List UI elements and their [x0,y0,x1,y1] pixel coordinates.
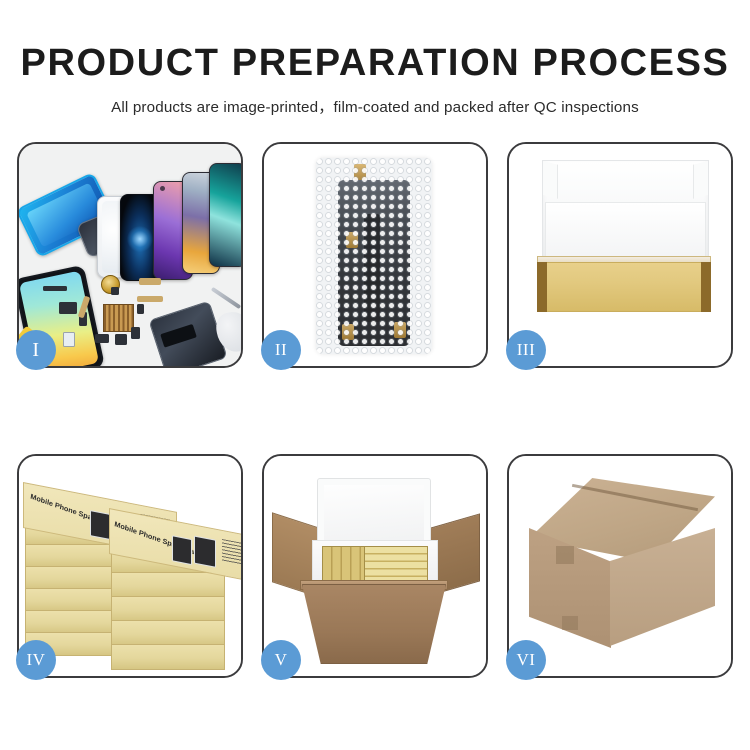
process-step-3: III [507,142,733,368]
foam-lid [317,478,431,548]
step-badge: III [506,330,546,370]
kraft-box-body [537,262,711,312]
box-art-phone [90,510,110,540]
stacked-box [111,572,225,598]
step-badge: I [16,330,56,370]
stacked-box [111,620,225,646]
bubble-wrap-bag [316,158,432,354]
page-title: PRODUCT PREPARATION PROCESS [0,0,750,82]
wrapped-spare-part [338,180,410,346]
chip-part [137,304,144,314]
step-badge: VI [506,640,546,680]
process-step-4: Mobile Phone Spare Parts Mobile Phone Sp… [17,454,243,678]
process-step-6: VI [507,454,733,678]
step-6-image [509,456,731,676]
flex-cable [137,296,163,302]
stacked-box [25,588,113,612]
process-step-grid: I II III [17,142,733,678]
process-step-5: V [262,454,488,678]
gold-tab [354,164,366,180]
stacked-box [111,644,225,670]
step-1-image [19,144,241,366]
step-2-image [264,144,486,366]
process-step-2: II [262,142,488,368]
stacked-box [25,566,113,590]
chip-part [63,332,75,347]
product-preparation-infographic: PRODUCT PREPARATION PROCESS All products… [0,0,750,750]
chip-part [59,302,77,314]
chip-part [111,287,119,295]
step-badge: II [261,330,301,370]
step-5-image [264,456,486,676]
step-badge: IV [16,640,56,680]
page-subtitle: All products are image-printed，film-coat… [0,82,750,117]
carton-tab [562,616,578,630]
flex-cable [139,278,161,285]
phone-rear-chassis [148,301,227,366]
chip-part [43,286,67,291]
gold-tab [394,322,406,338]
carton-tab [556,546,574,564]
step-badge: V [261,640,301,680]
header: PRODUCT PREPARATION PROCESS All products… [0,0,750,117]
stacked-box [111,596,225,622]
process-step-1: I [17,142,243,368]
parts-layout-scene [19,144,241,366]
box-art-phone [194,536,216,568]
step-3-image [509,144,731,366]
chip-part [131,327,140,339]
screw-mat [103,304,134,332]
teal-display [209,163,241,267]
chip-part [95,334,109,343]
gold-tab [342,324,354,340]
chip-part [115,334,127,345]
box-art-phone [172,535,192,565]
box-stack: Mobile Phone Spare Parts Mobile Phone Sp… [19,456,241,676]
tweezers [211,287,241,309]
box-spec-lines [222,539,241,567]
carton-body [302,584,446,664]
stacked-box [25,610,113,634]
gold-tab [346,232,358,248]
step-4-image: Mobile Phone Spare Parts Mobile Phone Sp… [19,456,241,676]
stacked-box [25,544,113,568]
